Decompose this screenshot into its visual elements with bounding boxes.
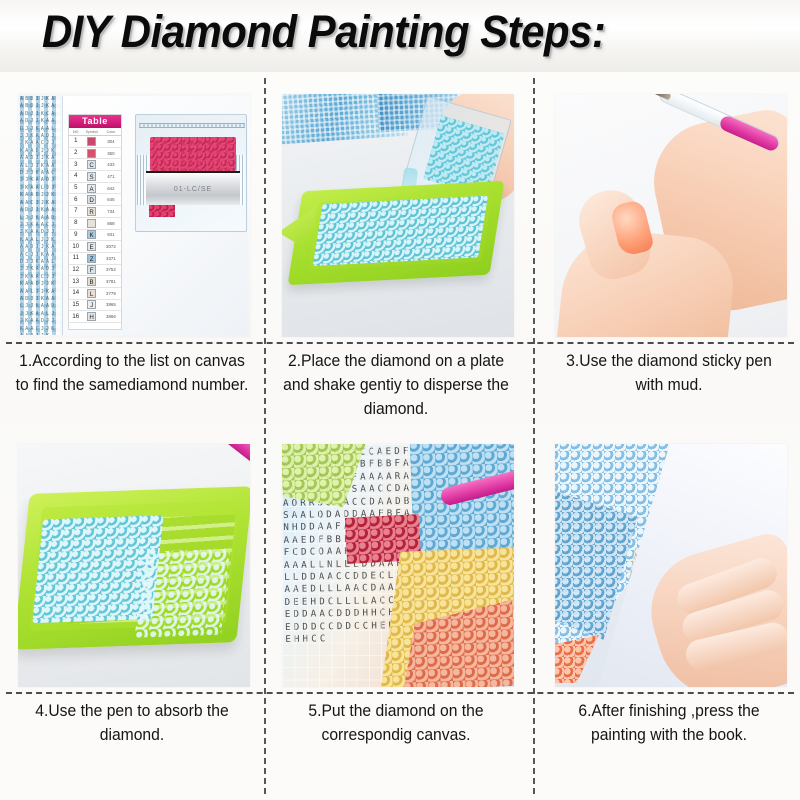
chart-row: 15J3865 (69, 300, 121, 312)
chart-row-symbol: S (82, 172, 100, 181)
tray-diamonds-in-rows (135, 549, 230, 638)
chart-row: 4S471 (69, 171, 121, 183)
canvas-symbol-letters: ABDJJKAABDJJKAADJJKCAADJJKAADJJKAALJJKAA… (20, 96, 60, 335)
step-cell-2: 2.Place the diamond on a plate and shake… (264, 72, 528, 422)
chart-row-number: 13 (69, 279, 82, 285)
step-caption-5: 5.Put the diamond on the correspondig ca… (278, 700, 514, 748)
chart-row: 6D645 (69, 194, 121, 206)
chart-row-number: 16 (69, 314, 82, 320)
step-caption-3: 3.Use the diamond sticky pen with mud. (551, 350, 787, 398)
chart-row-number: 15 (69, 302, 82, 308)
bag-label: 01-LC/SE (146, 171, 240, 205)
green-grooved-tray (18, 486, 250, 650)
step-caption-2: 2.Place the diamond on a plate and shake… (278, 350, 514, 422)
chart-row: 12F3752 (69, 265, 121, 277)
step-photo-4 (18, 444, 250, 687)
tray-blue-diamonds (313, 196, 489, 266)
chart-row-number: 2 (69, 150, 82, 156)
chart-title: Table (69, 115, 121, 128)
chart-column-headers: NO Symbol Color (69, 128, 121, 136)
chart-row: 11Z3371 (69, 253, 121, 265)
chart-col-no: NO (69, 130, 82, 134)
chart-row-dmc-code: 3072 (101, 244, 121, 249)
bag-zip-seal (139, 123, 245, 128)
chart-col-symbol: Symbol (82, 130, 100, 134)
page-title: DIY Diamond Painting Steps: (42, 6, 605, 58)
step-photo-3 (555, 94, 787, 337)
chart-row-symbol: A (82, 184, 100, 193)
chart-row-number: 12 (69, 267, 82, 273)
chart-row-number: 5 (69, 185, 82, 191)
chart-row-dmc-code: 304 (101, 139, 121, 144)
chart-row-dmc-code: 734 (101, 209, 121, 214)
step-caption-6: 6.After finishing ,press the painting wi… (551, 700, 787, 748)
chart-row-symbol: B (82, 277, 100, 286)
chart-row-symbol: K (82, 230, 100, 239)
chart-row-symbol: E (82, 242, 100, 251)
steps-grid: ABDJJKAABDJJKAADJJKCAADJJKAADJJKAALJJKAA… (0, 72, 800, 800)
kit-sheet: Table NO Symbol Color 130423503C4334S471… (62, 96, 248, 335)
chart-row-symbol (82, 219, 100, 228)
chart-row-dmc-code: 350 (101, 151, 121, 156)
chart-row-number: 9 (69, 232, 82, 238)
step-caption-1: 1.According to the list on canvas to fin… (14, 350, 250, 398)
step-cell-1: ABDJJKAABDJJKAADJJKCAADJJKAADJJKAALJJKAA… (0, 72, 264, 422)
pen-pink-grip (195, 444, 250, 465)
chart-row-symbol: L (82, 289, 100, 298)
bag-red-diamonds-lower (149, 205, 175, 217)
chart-col-color: Color (101, 130, 121, 134)
chart-row-symbol: F (82, 265, 100, 274)
chart-row-symbol: D (82, 195, 100, 204)
chart-row: 8868 (69, 218, 121, 230)
chart-row: 5A642 (69, 183, 121, 195)
chart-row-number: 7 (69, 208, 82, 214)
chart-row-number: 4 (69, 173, 82, 179)
chart-row-symbol (82, 149, 100, 158)
chart-row-symbol: C (82, 160, 100, 169)
step-photo-5: ACECCOHEACCAEDFBBDBBFAAAACCCAAEDFBFBFBBF… (282, 444, 514, 687)
chart-row-number: 3 (69, 162, 82, 168)
step-caption-4: 4.Use the pen to absorb the diamond. (14, 700, 250, 748)
step-cell-5: ACECCOHEACCAEDFBBDBBFAAAACCCAAEDFBFBFBBF… (264, 422, 528, 772)
diamond-sticky-pen (146, 444, 250, 465)
chart-row: 10E3072 (69, 241, 121, 253)
pen-tip (654, 94, 671, 100)
chart-row: 1304 (69, 136, 121, 148)
chart-row: 13B3781 (69, 276, 121, 288)
diamond-bag: 01-LC/SE (135, 114, 247, 232)
chart-rows: 130423503C4334S4715A6426D6457R73488689K9… (69, 136, 121, 323)
chart-row-number: 14 (69, 290, 82, 296)
chart-row-dmc-code: 3371 (101, 256, 121, 261)
chart-row-number: 10 (69, 244, 82, 250)
chart-row-number: 8 (69, 220, 82, 226)
chart-row-dmc-code: 931 (101, 232, 121, 237)
chart-row: 2350 (69, 148, 121, 160)
step-photo-6 (555, 444, 787, 687)
chart-row-symbol (82, 137, 100, 146)
chart-row-number: 1 (69, 138, 82, 144)
header-banner: DIY Diamond Painting Steps: (0, 0, 800, 72)
step-photo-2 (282, 94, 514, 337)
chart-row-dmc-code: 645 (101, 197, 121, 202)
chart-row-dmc-code: 3865 (101, 302, 121, 307)
chart-row-dmc-code: 3781 (101, 279, 121, 284)
chart-row-dmc-code: 3752 (101, 267, 121, 272)
chart-row-dmc-code: 471 (101, 174, 121, 179)
chart-row: 14L3779 (69, 288, 121, 300)
chart-row-number: 11 (69, 255, 82, 261)
chart-row: 7R734 (69, 206, 121, 218)
chart-row-dmc-code: 3866 (101, 314, 121, 319)
bag-red-diamonds (150, 137, 236, 171)
step-cell-3: 3.Use the diamond sticky pen with mud. (533, 72, 800, 422)
step-cell-4: 4.Use the pen to absorb the diamond. (0, 422, 264, 772)
chart-row-dmc-code: 3779 (101, 291, 121, 296)
chart-row-symbol: R (82, 207, 100, 216)
step-cell-6: 6.After finishing ,press the painting wi… (533, 422, 800, 772)
green-diamond-tray (288, 181, 505, 285)
chart-row: 9K931 (69, 230, 121, 242)
diy-diamond-painting-steps-infographic: DIY Diamond Painting Steps: ABDJJKAABDJJ… (0, 0, 800, 800)
chart-row-dmc-code: 868 (101, 221, 121, 226)
chart-row-symbol: Z (82, 254, 100, 263)
chart-row: 3C433 (69, 159, 121, 171)
step-photo-1: ABDJJKAABDJJKAADJJKCAADJJKAADJJKAALJJKAA… (18, 94, 250, 337)
chart-row-dmc-code: 642 (101, 186, 121, 191)
chart-row-symbol: H (82, 312, 100, 321)
chart-row-dmc-code: 433 (101, 162, 121, 167)
chart-row-number: 6 (69, 197, 82, 203)
chart-row-symbol: J (82, 300, 100, 309)
chart-row: 16H3866 (69, 311, 121, 323)
color-code-chart: Table NO Symbol Color 130423503C4334S471… (68, 114, 122, 330)
